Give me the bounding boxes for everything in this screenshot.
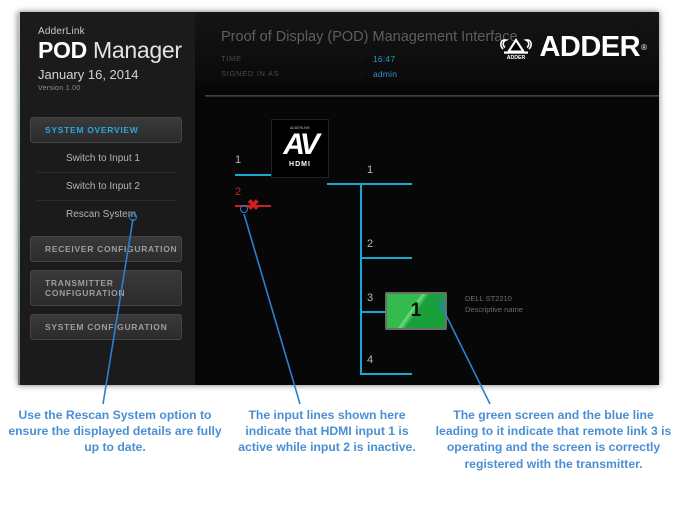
brand-title-light: Manager bbox=[87, 37, 182, 63]
time-value: 16:47 bbox=[373, 54, 395, 64]
time-row: TIME : 16:47 bbox=[221, 54, 242, 63]
submenu-system-overview: Switch to Input 1 Switch to Input 2 Resc… bbox=[30, 145, 182, 228]
navigation-menu: SYSTEM OVERVIEW Switch to Input 1 Switch… bbox=[30, 117, 182, 348]
screen-model: DELL ST2210 bbox=[465, 294, 523, 305]
av-mark-icon: AV bbox=[272, 131, 328, 160]
menu-group-system-configuration: SYSTEM CONFIGURATION bbox=[30, 314, 182, 340]
caption-screen: The green screen and the blue line leadi… bbox=[432, 407, 675, 472]
output-2-label: 2 bbox=[367, 238, 373, 250]
caption-rescan: Use the Rescan System option to ensure t… bbox=[6, 407, 224, 456]
svg-text:ADDER: ADDER bbox=[507, 55, 526, 61]
adderlink-av-device: ADDERLINK AV HDMI bbox=[271, 119, 329, 178]
time-label: TIME bbox=[221, 54, 242, 63]
sidebar: AdderLink POD Manager January 16, 2014 V… bbox=[20, 12, 196, 385]
menu-group-transmitter-configuration: TRANSMITTER CONFIGURATION bbox=[30, 270, 182, 306]
menu-group-system-overview: SYSTEM OVERVIEW Switch to Input 1 Switch… bbox=[30, 117, 182, 228]
brand-title-bold: POD bbox=[38, 37, 87, 63]
page-title: Proof of Display (POD) Management Interf… bbox=[221, 29, 518, 45]
output-3-wire bbox=[360, 311, 387, 313]
header-divider bbox=[205, 95, 659, 97]
sidebar-item-receiver-configuration[interactable]: RECEIVER CONFIGURATION bbox=[30, 236, 182, 262]
callout-dot-screen bbox=[437, 299, 445, 307]
signed-in-value: admin bbox=[373, 69, 397, 79]
output-4-label: 4 bbox=[367, 354, 373, 366]
screen-description: Descriptive name bbox=[465, 305, 523, 316]
input-1-label: 1 bbox=[235, 154, 241, 166]
connected-screen[interactable]: 1 bbox=[385, 292, 447, 330]
output-3-label: 3 bbox=[367, 292, 373, 304]
signed-in-label: SIGNED IN AS bbox=[221, 69, 279, 78]
input-2-inactive-x-icon: ✖ bbox=[247, 198, 260, 213]
time-separator: : bbox=[361, 54, 364, 63]
brand-subtitle: AdderLink bbox=[38, 26, 195, 37]
sidebar-item-switch-to-input-1[interactable]: Switch to Input 1 bbox=[36, 145, 176, 173]
sidebar-item-system-overview[interactable]: SYSTEM OVERVIEW bbox=[30, 117, 182, 143]
current-date: January 16, 2014 bbox=[38, 67, 195, 82]
brand-title: POD Manager bbox=[38, 38, 195, 62]
adder-logo-text: ADDER bbox=[539, 33, 640, 62]
callout-dot-inputs bbox=[240, 205, 248, 213]
hdmi-label: HDMI bbox=[272, 161, 328, 168]
header-bar: Proof of Display (POD) Management Interf… bbox=[195, 12, 659, 82]
sidebar-item-rescan-system[interactable]: Rescan System bbox=[36, 201, 176, 228]
screen-info: DELL ST2210 Descriptive name bbox=[465, 294, 523, 316]
input-2-label: 2 bbox=[235, 186, 241, 198]
output-1-wire bbox=[360, 183, 412, 185]
input-1-wire bbox=[235, 174, 271, 176]
device-output-wire bbox=[327, 183, 361, 185]
output-2-wire bbox=[360, 257, 412, 259]
main-panel: Proof of Display (POD) Management Interf… bbox=[195, 12, 659, 385]
registered-trademark-icon: ® bbox=[641, 43, 647, 52]
distribution-bus-wire bbox=[360, 183, 362, 373]
caption-inputs: The input lines shown here indicate that… bbox=[234, 407, 420, 456]
callout-dot-rescan bbox=[129, 213, 137, 221]
output-1-label: 1 bbox=[367, 164, 373, 176]
adder-snake-emblem-icon: ADDER bbox=[495, 31, 537, 63]
signed-in-separator: : bbox=[361, 69, 364, 78]
signed-in-row: SIGNED IN AS : admin bbox=[221, 69, 279, 78]
application-window: AdderLink POD Manager January 16, 2014 V… bbox=[18, 12, 659, 385]
sidebar-item-system-configuration[interactable]: SYSTEM CONFIGURATION bbox=[30, 314, 182, 340]
system-overview-diagram: 1 2 ✖ ADDERLINK AV HDMI 1 2 3 bbox=[195, 102, 659, 385]
output-4-wire bbox=[360, 373, 412, 375]
sidebar-item-transmitter-configuration[interactable]: TRANSMITTER CONFIGURATION bbox=[30, 270, 182, 306]
sidebar-item-switch-to-input-2[interactable]: Switch to Input 2 bbox=[36, 173, 176, 201]
adder-logo: ADDER ADDER ® bbox=[495, 30, 647, 64]
brand-block: AdderLink POD Manager January 16, 2014 V… bbox=[20, 12, 195, 92]
version-label: Version 1.00 bbox=[38, 85, 195, 92]
menu-group-receiver-configuration: RECEIVER CONFIGURATION bbox=[30, 236, 182, 262]
